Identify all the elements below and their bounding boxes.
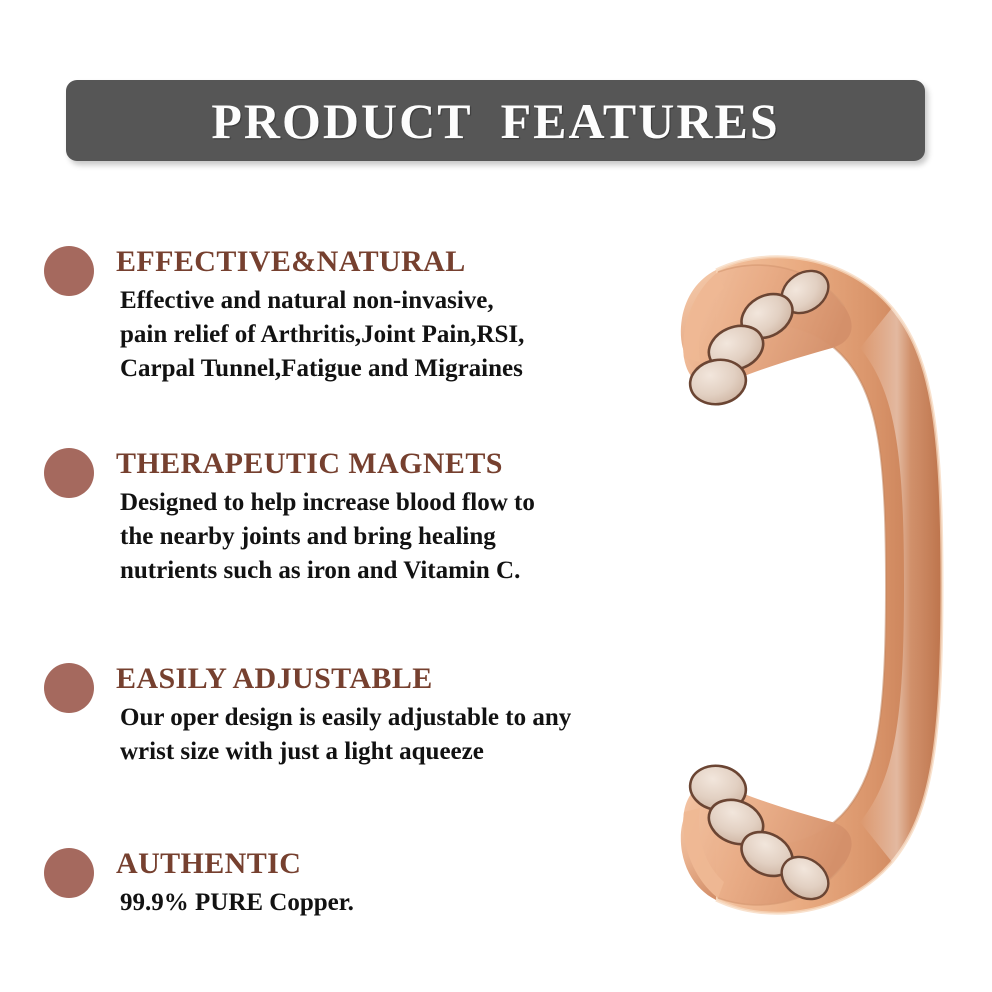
- feature-heading: EASILY ADJUSTABLE: [116, 663, 636, 695]
- bullet-dot-icon: [44, 663, 94, 713]
- feature-heading: AUTHENTIC: [116, 848, 636, 880]
- feature-text-block: AUTHENTIC 99.9% PURE Copper.: [116, 848, 636, 920]
- bullet-dot-icon: [44, 246, 94, 296]
- feature-body: Effective and natural non-invasive, pain…: [116, 284, 636, 386]
- feature-body-line: Our oper design is easily adjustable to …: [120, 701, 636, 735]
- feature-list: EFFECTIVE&NATURAL Effective and natural …: [0, 0, 640, 992]
- bullet-dot-icon: [44, 848, 94, 898]
- feature-body-line: Designed to help increase blood flow to: [120, 486, 636, 520]
- feature-body-line: the nearby joints and bring healing: [120, 520, 636, 554]
- feature-heading: THERAPEUTIC MAGNETS: [116, 448, 636, 480]
- feature-body-line: wrist size with just a light aqueeze: [120, 735, 636, 769]
- product-features-infographic: PRODUCT FEATURES EFFECTIVE&NATURAL Effec…: [0, 0, 992, 992]
- feature-body: Our oper design is easily adjustable to …: [116, 701, 636, 769]
- feature-body: 99.9% PURE Copper.: [116, 886, 636, 920]
- feature-body-line: nutrients such as iron and Vitamin C.: [120, 554, 636, 588]
- feature-text-block: EFFECTIVE&NATURAL Effective and natural …: [116, 246, 636, 386]
- feature-body-line: 99.9% PURE Copper.: [120, 886, 636, 920]
- feature-text-block: EASILY ADJUSTABLE Our oper design is eas…: [116, 663, 636, 769]
- cuff-tip-bottom: [681, 761, 852, 907]
- feature-body-line: pain relief of Arthritis,Joint Pain,RSI,: [120, 318, 636, 352]
- bullet-dot-icon: [44, 448, 94, 498]
- product-image-copper-bracelet: [620, 222, 950, 948]
- feature-body: Designed to help increase blood flow to …: [116, 486, 636, 588]
- feature-body-line: Effective and natural non-invasive,: [120, 284, 636, 318]
- cuff-tip-top: [681, 262, 852, 408]
- feature-body-line: Carpal Tunnel,Fatigue and Migraines: [120, 352, 636, 386]
- feature-text-block: THERAPEUTIC MAGNETS Designed to help inc…: [116, 448, 636, 588]
- feature-heading: EFFECTIVE&NATURAL: [116, 246, 636, 278]
